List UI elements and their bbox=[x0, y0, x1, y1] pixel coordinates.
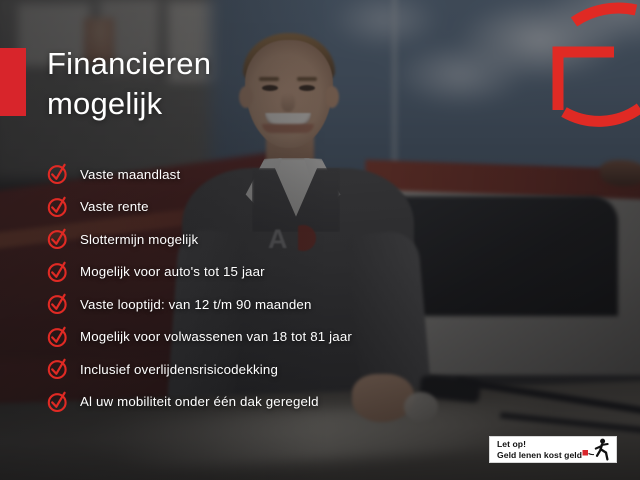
red-accent-block bbox=[0, 48, 26, 116]
red-circular-arrow-icon bbox=[544, 0, 640, 170]
afm-warning-line-2: Geld lenen kost geld bbox=[497, 450, 582, 461]
feature-list-item: Mogelijk voor auto's tot 15 jaar bbox=[47, 256, 467, 289]
check-circle-icon bbox=[47, 391, 69, 413]
feature-list-item-label: Slottermijn mogelijk bbox=[80, 232, 198, 247]
afm-warning-line-1: Let op! bbox=[497, 439, 582, 450]
feature-list-item-label: Vaste looptijd: van 12 t/m 90 maanden bbox=[80, 297, 312, 312]
feature-list-item-label: Vaste maandlast bbox=[80, 167, 180, 182]
check-circle-icon bbox=[47, 163, 69, 185]
feature-list-item-label: Mogelijk voor volwassenen van 18 tot 81 … bbox=[80, 329, 352, 344]
feature-list: Vaste maandlastVaste renteSlottermijn mo… bbox=[47, 158, 467, 418]
financiering-promo-banner: A Financieren mogelijk Vaste maandlastVa… bbox=[0, 0, 640, 480]
headline-line-1: Financieren bbox=[47, 44, 377, 84]
check-circle-icon bbox=[47, 261, 69, 283]
feature-list-item: Slottermijn mogelijk bbox=[47, 223, 467, 256]
check-circle-icon bbox=[47, 196, 69, 218]
feature-list-item-label: Al uw mobiliteit onder één dak geregeld bbox=[80, 394, 319, 409]
feature-list-item-label: Vaste rente bbox=[80, 199, 149, 214]
feature-list-item: Vaste looptijd: van 12 t/m 90 maanden bbox=[47, 288, 467, 321]
page-title: Financieren mogelijk bbox=[47, 44, 377, 123]
feature-list-item-label: Mogelijk voor auto's tot 15 jaar bbox=[80, 264, 265, 279]
feature-list-item-label: Inclusief overlijdensrisicodekking bbox=[80, 362, 278, 377]
feature-list-item: Inclusief overlijdensrisicodekking bbox=[47, 353, 467, 386]
check-circle-icon bbox=[47, 326, 69, 348]
feature-list-item: Vaste rente bbox=[47, 191, 467, 224]
check-circle-icon bbox=[47, 358, 69, 380]
afm-warning-text: Let op! Geld lenen kost geld bbox=[497, 439, 582, 460]
headline-line-2: mogelijk bbox=[47, 84, 377, 124]
check-circle-icon bbox=[47, 228, 69, 250]
feature-list-item: Vaste maandlast bbox=[47, 158, 467, 191]
ball-and-chain-walker-icon bbox=[582, 438, 612, 461]
check-circle-icon bbox=[47, 293, 69, 315]
afm-warning-badge: Let op! Geld lenen kost geld bbox=[489, 436, 617, 463]
feature-list-item: Mogelijk voor volwassenen van 18 tot 81 … bbox=[47, 321, 467, 354]
feature-list-item: Al uw mobiliteit onder één dak geregeld bbox=[47, 386, 467, 419]
